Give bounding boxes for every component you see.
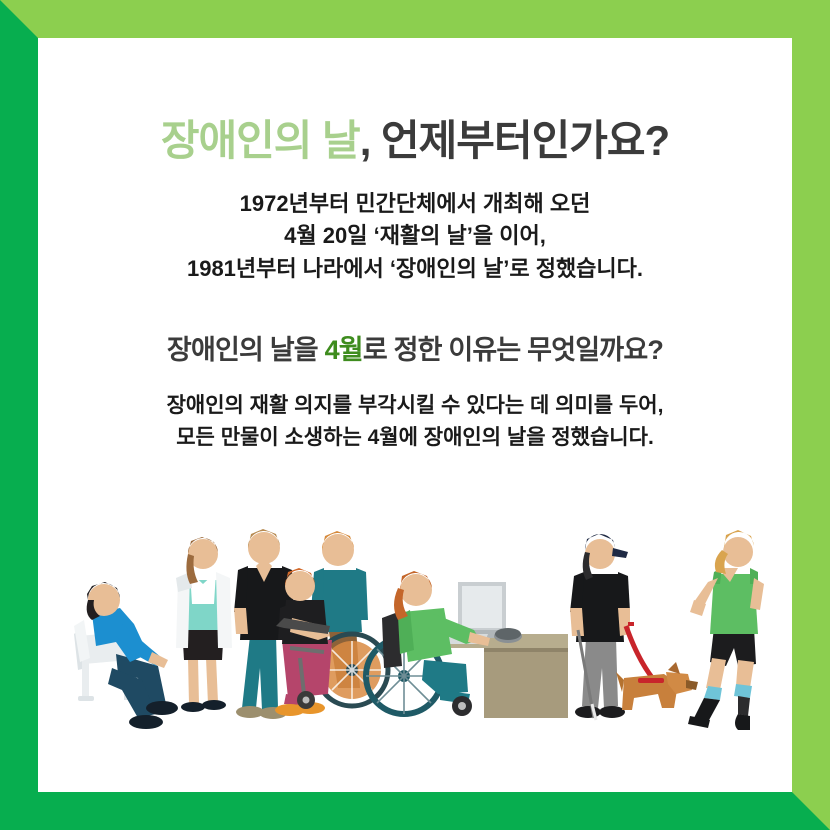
paragraph-two-line-2: 모든 만물이 소생하는 4월에 장애인의 날을 정했습니다.: [38, 422, 792, 454]
paragraph-one: 1972년부터 민간단체에서 개최해 오던 4월 20일 ‘재활의 날’을 이어…: [38, 166, 792, 286]
card-content: 장애인의 날, 언제부터인가요? 1972년부터 민간단체에서 개최해 오던 4…: [38, 38, 792, 792]
figure-woman-in-lab-coat: [176, 537, 232, 712]
subheading-highlight: 4월: [325, 335, 363, 365]
title-rest: , 언제부터인가요?: [360, 117, 669, 164]
figure-woman-at-desk-in-wheelchair: [366, 571, 568, 718]
subheading-after: 로 정한 이유는 무엇일까요?: [363, 335, 663, 365]
paragraph-one-line-3: 1981년부터 나라에서 ‘장애인의 날’로 정했습니다.: [38, 253, 792, 286]
paragraph-one-line-2: 4월 20일 ‘재활의 날’을 이어,: [38, 220, 792, 253]
paragraph-two-line-1: 장애인의 재활 의지를 부각시킬 수 있다는 데 의미를 두어,: [38, 390, 792, 422]
infographic-card: 장애인의 날, 언제부터인가요? 1972년부터 민간단체에서 개최해 오던 4…: [0, 0, 830, 830]
page-title: 장애인의 날, 언제부터인가요?: [38, 38, 792, 166]
title-highlight: 장애인의 날: [161, 117, 360, 164]
subheading-before: 장애인의 날을: [167, 335, 325, 365]
figure-person-with-guide-dog-and-cane: [570, 534, 698, 720]
paragraph-one-line-1: 1972년부터 민간단체에서 개최해 오던: [38, 188, 792, 221]
paragraph-two: 장애인의 재활 의지를 부각시킬 수 있다는 데 의미를 두어, 모든 만물이 …: [38, 368, 792, 453]
sub-heading: 장애인의 날을 4월로 정한 이유는 무엇일까요?: [38, 285, 792, 368]
figure-runner-with-prosthetic-leg: [688, 530, 764, 730]
illustration-group: 장애인 일상 생활 일러스트: [38, 508, 792, 738]
figure-seated-woman-in-chair: [74, 582, 178, 729]
